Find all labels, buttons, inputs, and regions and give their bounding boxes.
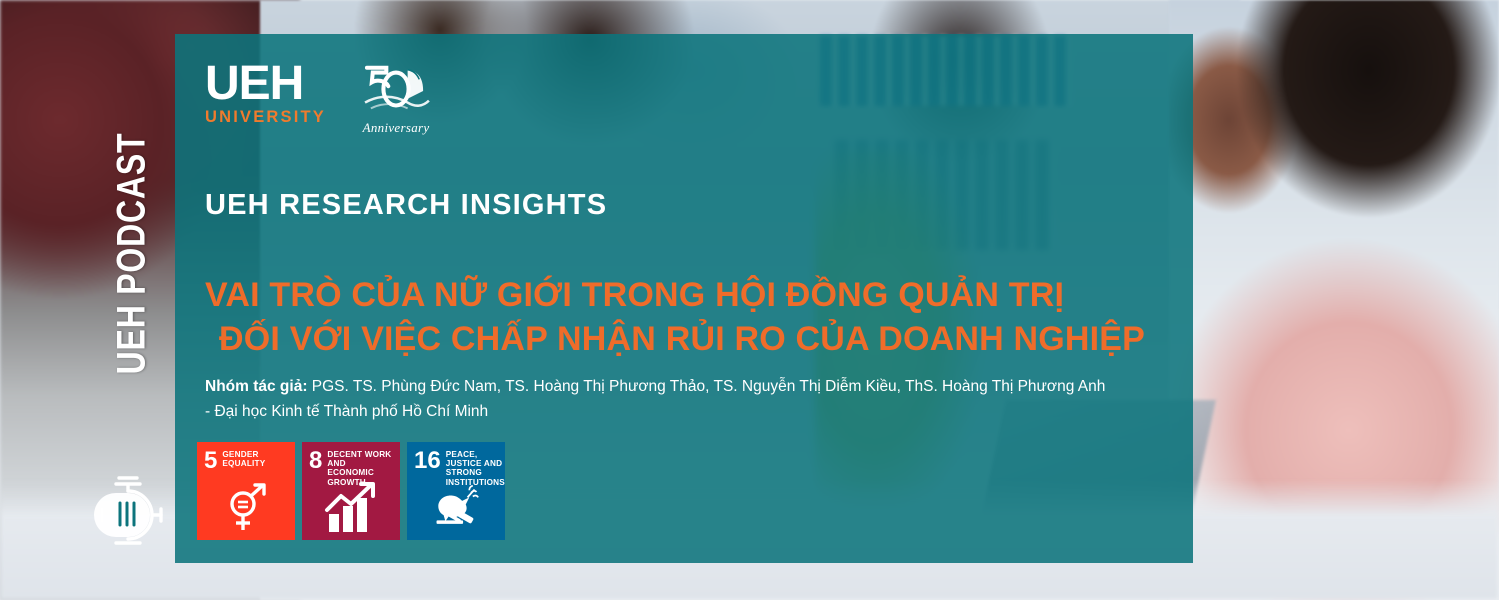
microphone-icon — [86, 463, 170, 547]
ueh-logo-subtitle: UNIVERSITY — [205, 109, 326, 126]
sdg-badge-16: 16 PEACE, JUSTICE AND STRONG INSTITUTION… — [407, 442, 505, 540]
section-kicker: UEH RESEARCH INSIGHTS — [205, 189, 607, 222]
anniversary-label: Anniversary — [356, 120, 436, 136]
sdg-badge-5: 5 GENDER EQUALITY — [197, 442, 295, 540]
sdg-16-number: 16 — [414, 450, 441, 472]
page-title: VAI TRÒ CỦA NỮ GIỚI TRONG HỘI ĐỒNG QUẢN … — [205, 274, 1155, 361]
page-title-line-1: VAI TRÒ CỦA NỮ GIỚI TRONG HỘI ĐỒNG QUẢN … — [205, 274, 1155, 318]
dove-gavel-icon — [428, 485, 484, 537]
sdg-5-label: GENDER EQUALITY — [222, 450, 288, 468]
authors-names: PGS. TS. Phùng Đức Nam, TS. Hoàng Thị Ph… — [307, 378, 1105, 395]
authors-block: Nhóm tác giả: PGS. TS. Phùng Đức Nam, TS… — [205, 374, 1155, 424]
sdg-5-number: 5 — [204, 450, 217, 472]
logo-row: UEH UNIVERSITY — [205, 62, 436, 136]
ueh-logo: UEH UNIVERSITY — [205, 62, 326, 126]
sdg-badge-group: 5 GENDER EQUALITY — [197, 442, 505, 540]
economic-growth-chart-icon — [323, 482, 379, 534]
page-title-line-2: ĐỐI VỚI VIỆC CHẤP NHẬN RỦI RO CỦA DOANH … — [205, 318, 1155, 362]
sdg-16-label: PEACE, JUSTICE AND STRONG INSTITUTIONS — [446, 450, 505, 487]
anniversary-logo: Anniversary — [356, 60, 436, 136]
sdg-badge-8: 8 DECENT WORK AND ECONOMIC GROWTH — [302, 442, 400, 540]
ueh-logo-mark: UEH — [205, 62, 326, 106]
podcast-vertical-label: UEH PODCAST — [110, 94, 155, 414]
gender-equality-icon — [218, 482, 274, 534]
authors-affiliation: - Đại học Kinh tế Thành phố Hồ Chí Minh — [205, 403, 488, 420]
authors-label: Nhóm tác giả: — [205, 378, 307, 395]
podcast-rail: UEH PODCAST — [78, 55, 178, 555]
sdg-8-number: 8 — [309, 450, 322, 472]
teal-content-panel: UEH UNIVERSITY — [175, 34, 1193, 563]
anniversary-50-icon — [356, 60, 436, 120]
podcast-banner: UEH PODCAST — [0, 0, 1499, 600]
